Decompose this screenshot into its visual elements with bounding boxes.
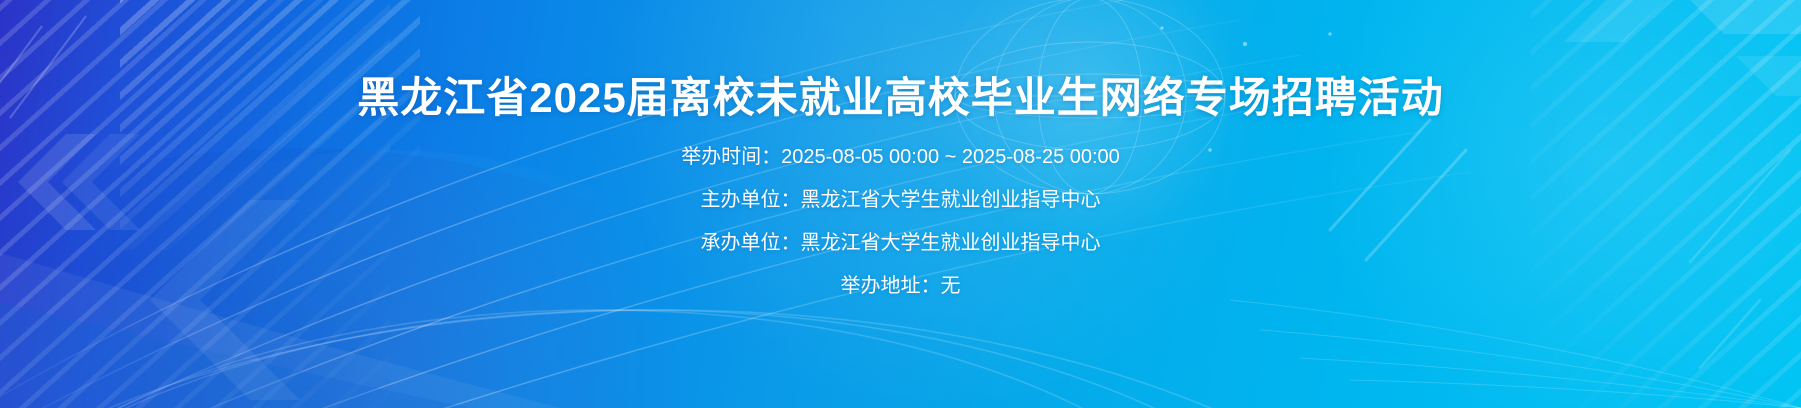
event-banner: 黑龙江省2025届离校未就业高校毕业生网络专场招聘活动 举办时间：2025-08… (0, 0, 1801, 408)
event-host-line: 主办单位：黑龙江省大学生就业创业指导中心 (701, 190, 1101, 210)
event-address-line: 举办地址：无 (841, 276, 961, 296)
event-organizer-line: 承办单位：黑龙江省大学生就业创业指导中心 (701, 233, 1101, 253)
event-title: 黑龙江省2025届离校未就业高校毕业生网络专场招聘活动 (357, 74, 1443, 121)
banner-content: 黑龙江省2025届离校未就业高校毕业生网络专场招聘活动 举办时间：2025-08… (0, 0, 1801, 408)
event-time-line: 举办时间：2025-08-05 00:00 ~ 2025-08-25 00:00 (681, 147, 1120, 167)
